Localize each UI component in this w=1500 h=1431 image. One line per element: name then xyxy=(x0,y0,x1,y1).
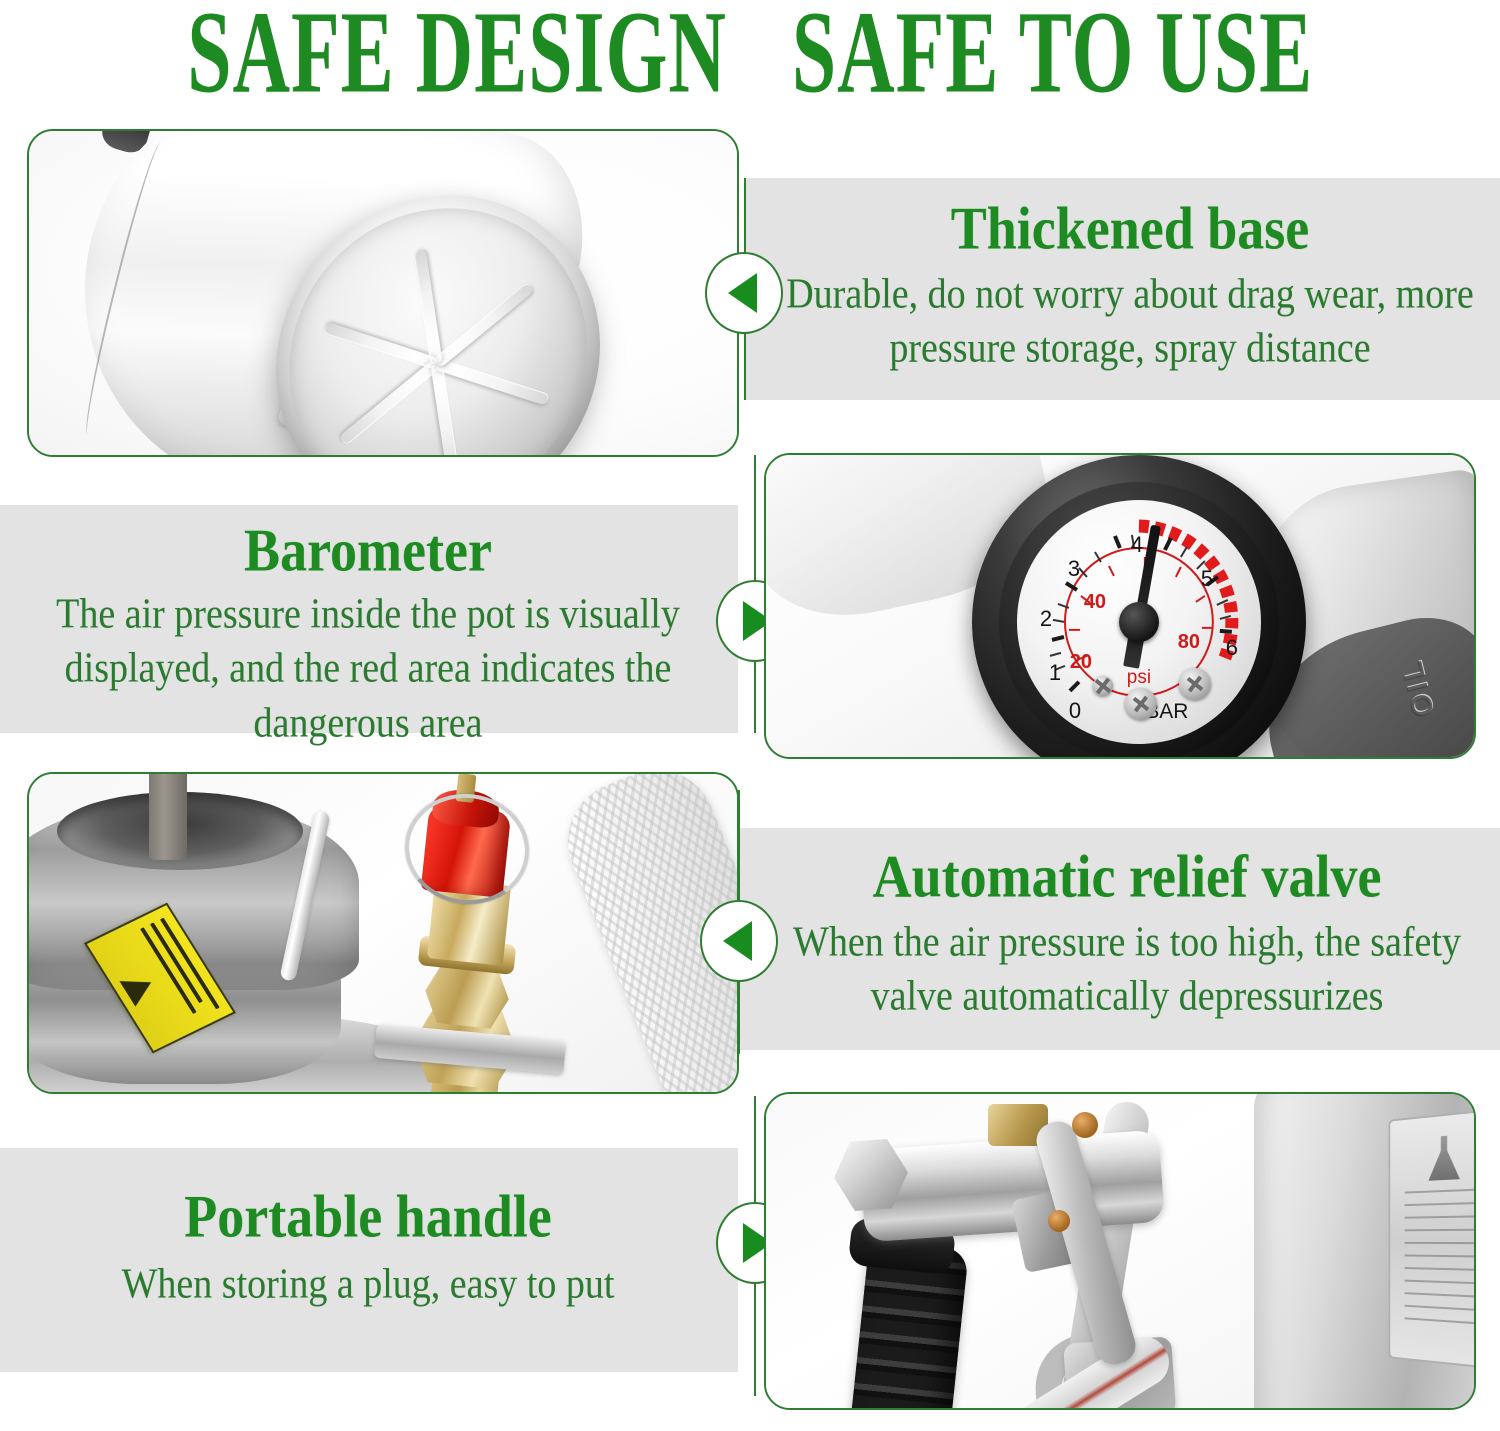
svg-text:4: 4 xyxy=(1131,532,1143,557)
feature-title: Portable handle xyxy=(12,1184,724,1249)
svg-text:80: 80 xyxy=(1178,631,1200,653)
svg-text:1: 1 xyxy=(1049,660,1061,685)
relief-valve-photo xyxy=(29,774,737,1092)
trigger-pivot-lower xyxy=(1048,1210,1070,1232)
gauge-unit-psi: psi xyxy=(1127,667,1151,688)
plate-icon xyxy=(1428,1134,1460,1180)
gauge-screw xyxy=(1179,668,1211,700)
text-block-portable-handle: Portable handle When storing a plug, eas… xyxy=(12,1184,724,1308)
title-part-2: SAFE TO USE xyxy=(791,0,1312,111)
svg-text:2: 2 xyxy=(1040,606,1052,631)
feature-description: The air pressure inside the pot is visua… xyxy=(12,588,724,751)
svg-text:40: 40 xyxy=(1084,591,1106,613)
infographic-root: SAFE DESIGN SAFE TO USE Thick xyxy=(0,0,1500,1431)
page-title: SAFE DESIGN SAFE TO USE xyxy=(0,0,1500,104)
feature-description: When the air pressure is too high, the s… xyxy=(762,916,1492,1025)
trigger-pivot-upper xyxy=(1072,1112,1098,1138)
warning-triangle-icon xyxy=(120,970,159,1007)
text-block-barometer: Barometer The air pressure inside the po… xyxy=(12,518,724,736)
feature-title: Thickened base xyxy=(770,196,1490,261)
stand-rod xyxy=(149,772,187,860)
svg-text:0: 0 xyxy=(1069,698,1081,723)
plate-ticks xyxy=(1405,1188,1476,1331)
left-triangle-icon xyxy=(723,921,752,961)
feature-title: Barometer xyxy=(12,518,724,583)
gauge-screw xyxy=(1125,688,1157,720)
gauge-needle-hub xyxy=(1119,602,1159,642)
text-block-thickened-base: Thickened base Durable, do not worry abo… xyxy=(770,196,1490,367)
title-part-1: SAFE DESIGN xyxy=(188,0,728,111)
photo-panel-barometer: OIL xyxy=(764,453,1476,759)
text-block-relief-valve: Automatic relief valve When the air pres… xyxy=(762,844,1492,1015)
svg-text:3: 3 xyxy=(1068,556,1080,581)
portable-handle-photo xyxy=(766,1094,1474,1408)
gauge-housing: 0 1 2 3 4 5 6 20 40 80 xyxy=(972,455,1306,759)
photo-panel-portable-handle xyxy=(764,1092,1476,1410)
feature-description: Durable, do not worry about drag wear, m… xyxy=(770,268,1490,377)
svg-text:5: 5 xyxy=(1201,566,1213,591)
left-triangle-icon xyxy=(728,273,757,313)
photo-panel-thickened-base xyxy=(27,129,739,457)
gauge-dial-face: 0 1 2 3 4 5 6 20 40 80 xyxy=(1017,500,1261,744)
tank-side-wall xyxy=(1254,1092,1476,1410)
feature-title: Automatic relief valve xyxy=(762,844,1492,909)
svg-text:6: 6 xyxy=(1226,635,1238,660)
barometer-photo: OIL xyxy=(766,455,1474,757)
feature-description: When storing a plug, easy to put xyxy=(12,1258,724,1312)
svg-text:20: 20 xyxy=(1070,651,1092,673)
tank-base-photo xyxy=(29,131,737,455)
photo-panel-relief-valve xyxy=(27,772,739,1094)
tank-label-plate xyxy=(1388,1108,1476,1371)
